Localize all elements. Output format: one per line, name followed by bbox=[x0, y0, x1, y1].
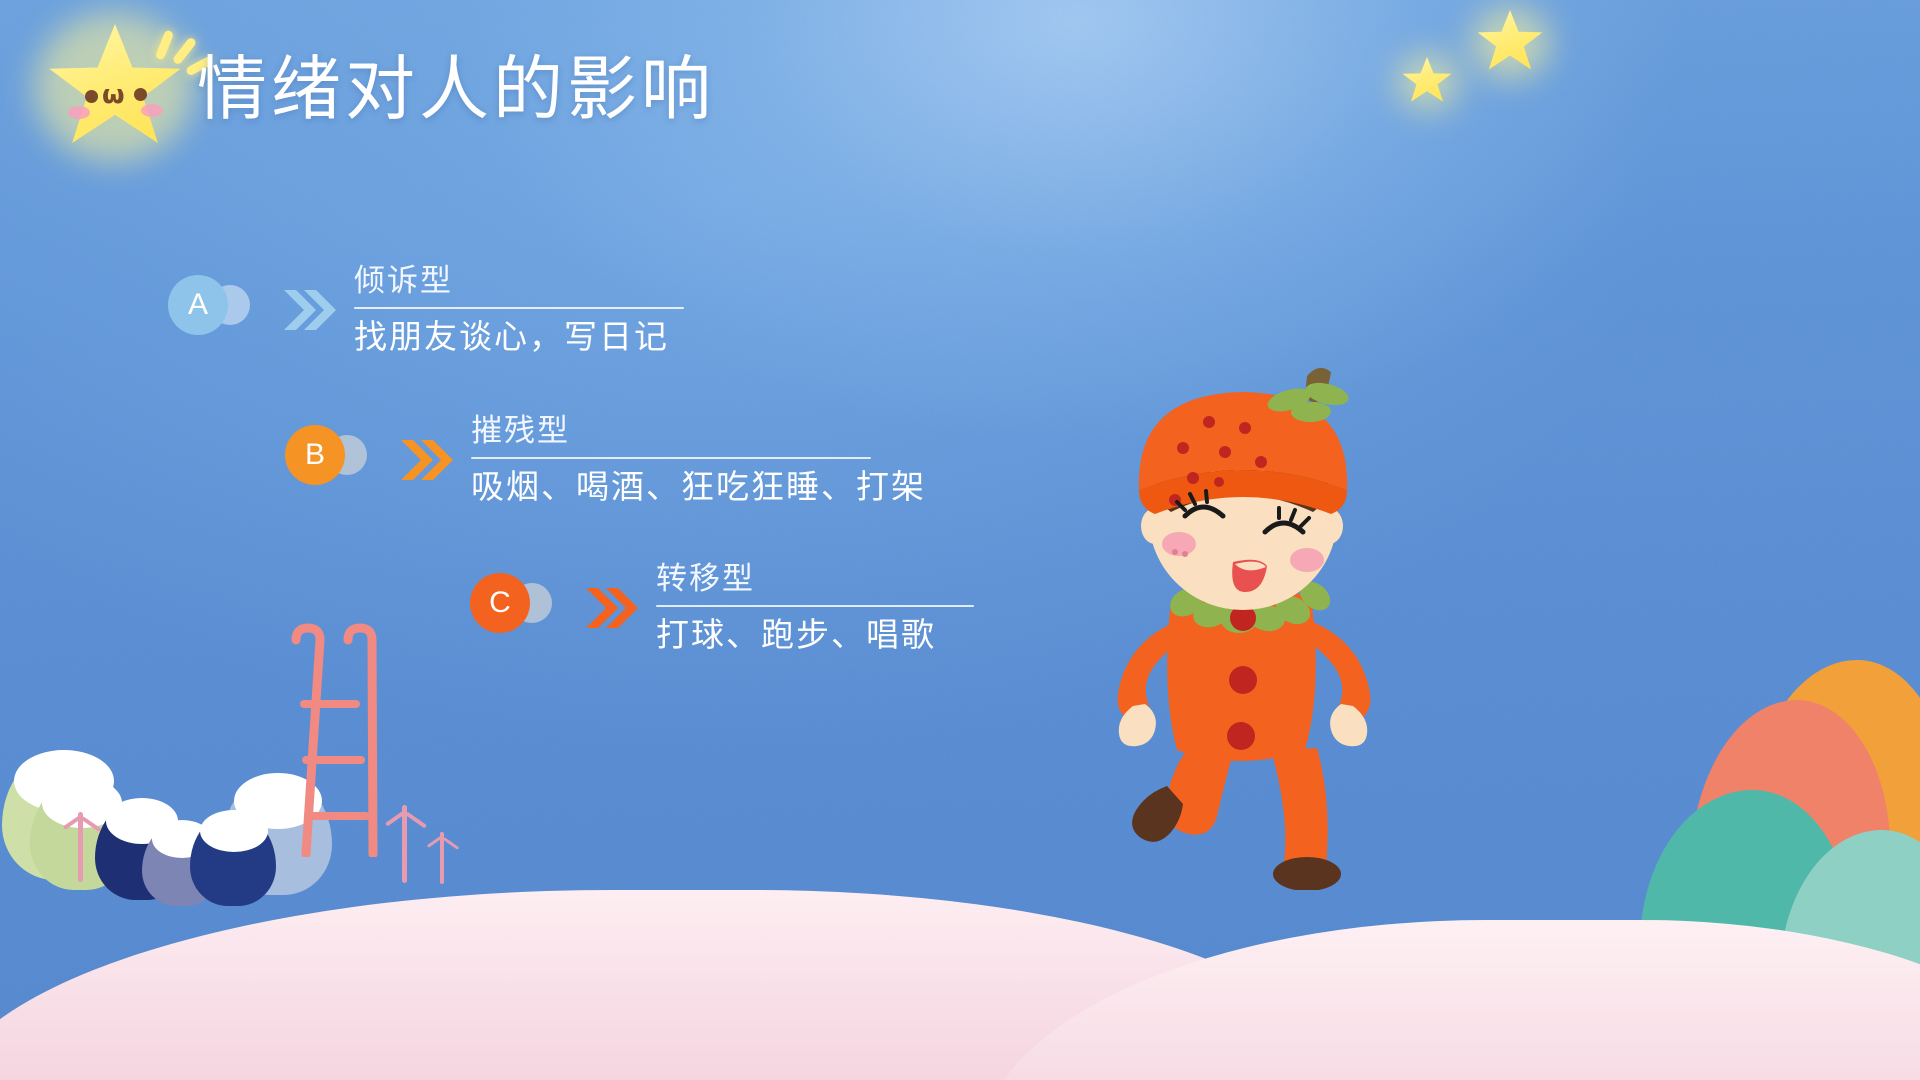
badge-label: A bbox=[188, 288, 208, 322]
badge-group: A bbox=[168, 273, 278, 347]
badge-group: B bbox=[285, 423, 395, 497]
star-eye-right-icon bbox=[134, 88, 147, 101]
badge-letter-a: A bbox=[168, 275, 228, 335]
badge-label: C bbox=[489, 586, 511, 620]
star-mouth-icon: ω bbox=[102, 80, 125, 110]
chevron-double-right-icon bbox=[397, 434, 457, 486]
star-face-icon: ω bbox=[40, 14, 190, 164]
badge-label: B bbox=[305, 438, 325, 472]
chevron-double-right-icon bbox=[582, 582, 642, 634]
badge-letter-b: B bbox=[285, 425, 345, 485]
persimmon-costume-child-illustration bbox=[1075, 350, 1405, 890]
list-item[interactable]: A 倾诉型 找朋友谈心，写日记 bbox=[168, 262, 684, 357]
item-divider bbox=[656, 605, 974, 607]
page-title: 情绪对人的影响 bbox=[197, 53, 715, 129]
item-heading: 倾诉型 bbox=[354, 262, 684, 301]
item-divider bbox=[471, 457, 871, 459]
item-subtext: 打球、跑步、唱歌 bbox=[656, 614, 974, 655]
ladder-icon bbox=[278, 622, 388, 862]
item-subtext: 吸烟、喝酒、狂吃狂睡、打架 bbox=[471, 466, 926, 507]
list-item[interactable]: B 摧残型 吸烟、喝酒、狂吃狂睡、打架 bbox=[285, 412, 926, 507]
badge-letter-c: C bbox=[470, 573, 530, 633]
badge-group: C bbox=[470, 571, 580, 645]
list-item[interactable]: C 转移型 打球、跑步、唱歌 bbox=[470, 560, 974, 655]
chevron-double-right-icon bbox=[280, 284, 340, 336]
star-icon bbox=[1400, 55, 1456, 109]
item-divider bbox=[354, 307, 684, 309]
slide-canvas: ω 情绪对人的影响 A 倾诉型 找朋 bbox=[0, 0, 1920, 1080]
item-text-column: 倾诉型 找朋友谈心，写日记 bbox=[354, 262, 684, 357]
star-eye-left-icon bbox=[85, 90, 98, 103]
star-icon bbox=[1475, 8, 1547, 78]
item-text-column: 转移型 打球、跑步、唱歌 bbox=[656, 560, 974, 655]
item-text-column: 摧残型 吸烟、喝酒、狂吃狂睡、打架 bbox=[471, 412, 926, 507]
item-subtext: 找朋友谈心，写日记 bbox=[354, 316, 684, 357]
item-heading: 摧残型 bbox=[471, 412, 926, 451]
item-heading: 转移型 bbox=[656, 560, 974, 599]
